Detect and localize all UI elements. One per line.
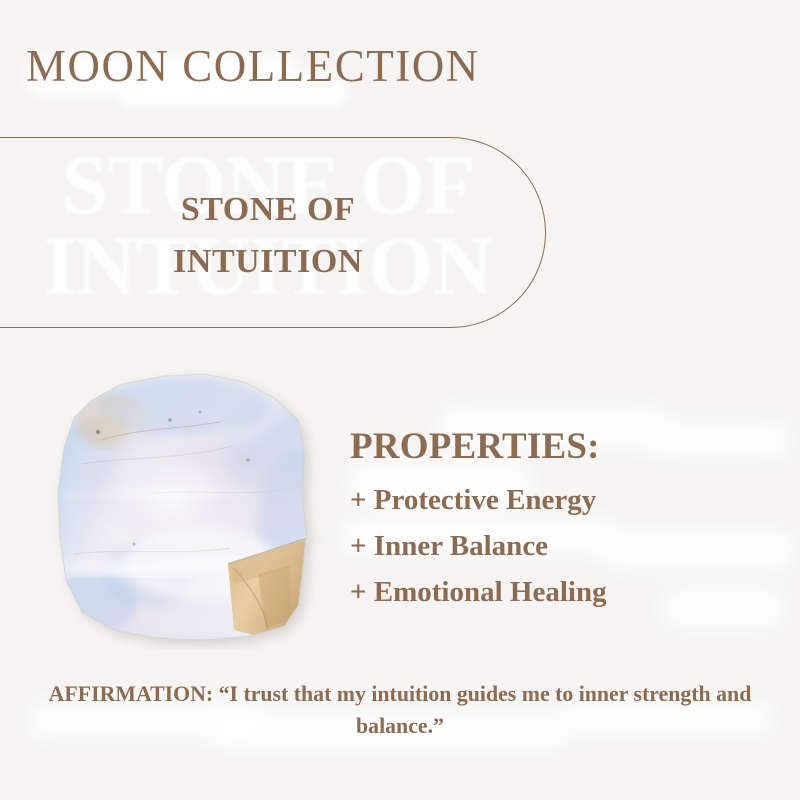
property-item-2: + Inner Balance xyxy=(350,532,750,561)
properties-section: PROPERTIES: + Protective Energy + Inner … xyxy=(350,428,750,624)
properties-heading: PROPERTIES: xyxy=(350,428,750,465)
crystal-info-card: MOON COLLECTION STONE OF INTUITION STONE… xyxy=(0,0,800,800)
headline-text: STONE OF INTUITION xyxy=(22,184,514,287)
moonstone-crystal-image xyxy=(52,368,328,650)
collection-title: MOON COLLECTION xyxy=(26,44,480,89)
affirmation-text: AFFIRMATION: “I trust that my intuition … xyxy=(45,678,755,743)
property-item-3: + Emotional Healing xyxy=(350,578,750,607)
property-item-1: + Protective Energy xyxy=(350,486,750,515)
